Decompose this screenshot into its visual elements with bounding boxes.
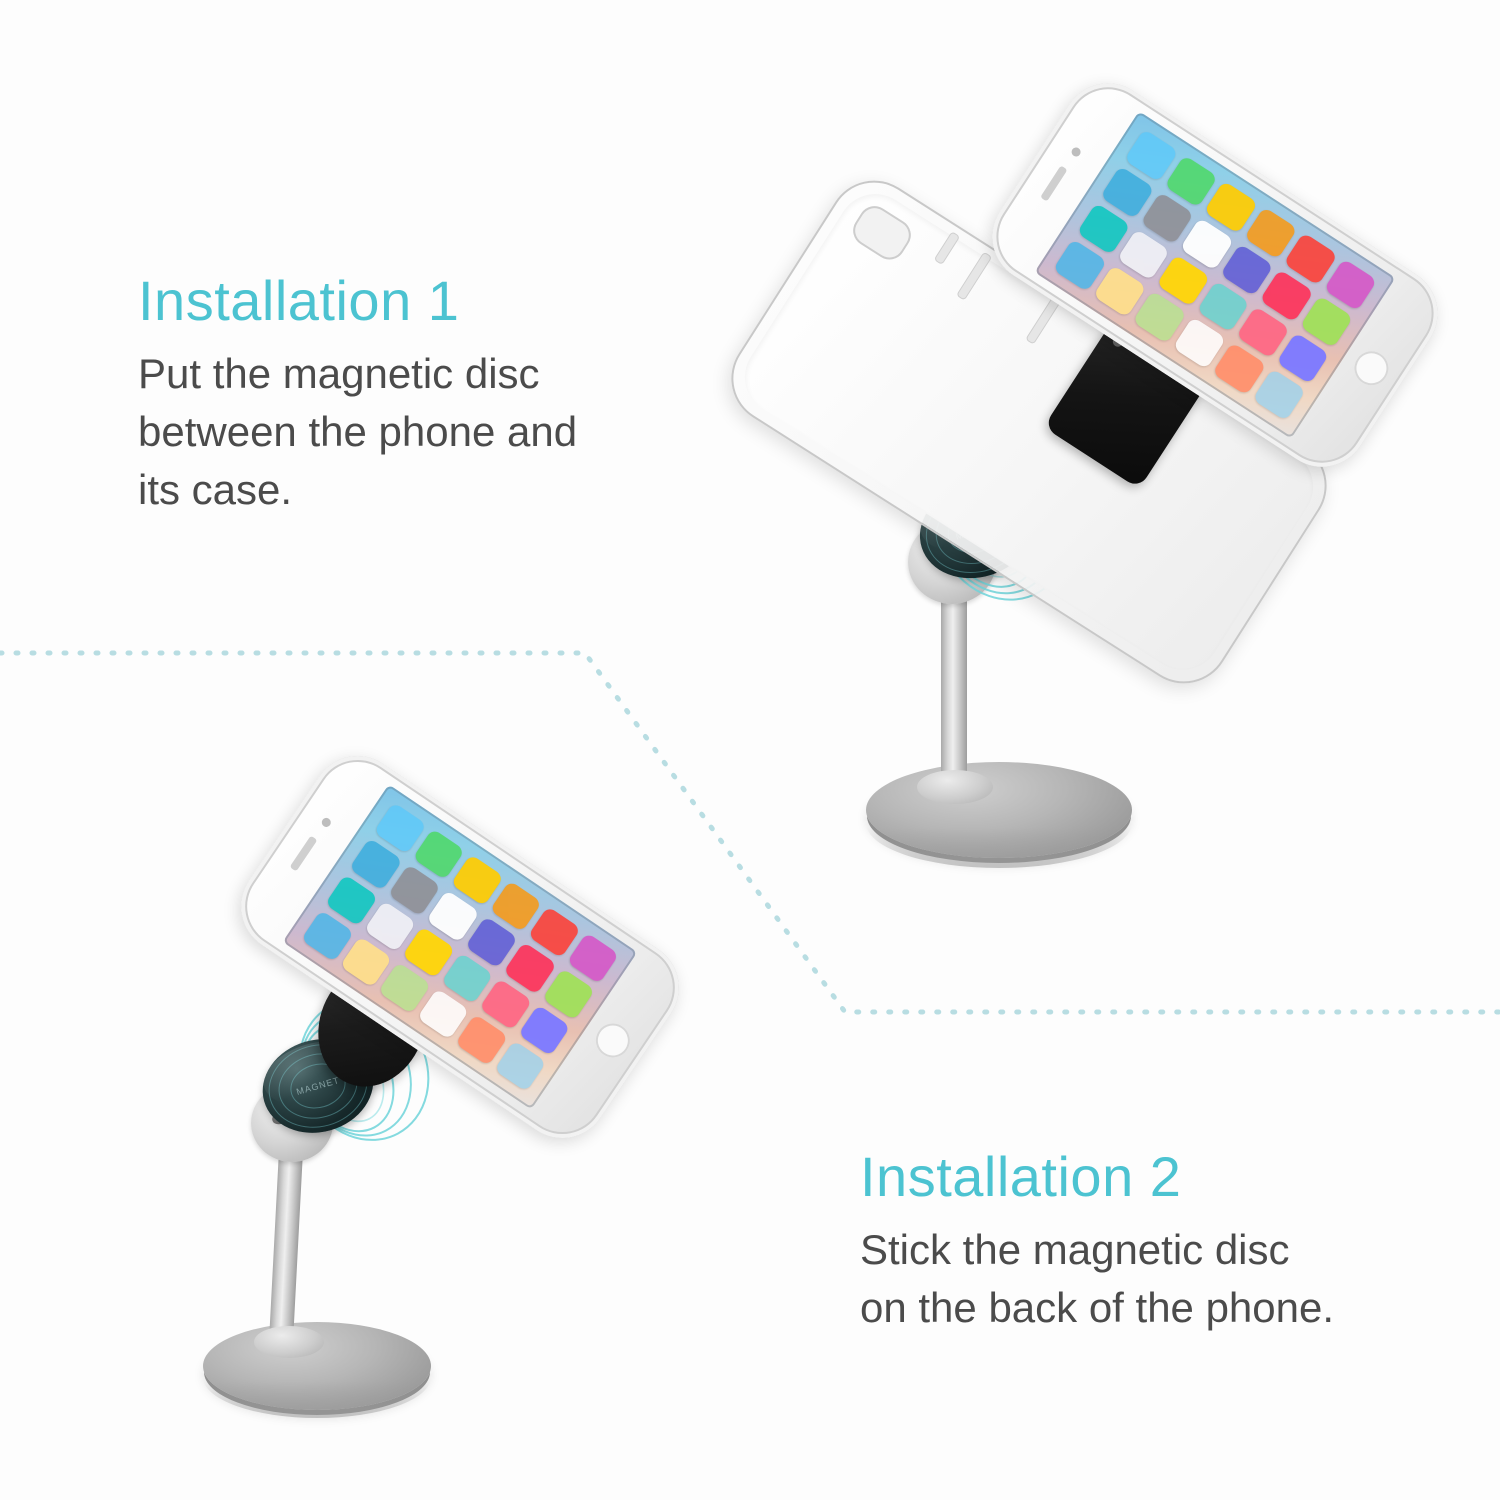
product-instruction-graphic: Installation 1 Put the magnetic disc bet… bbox=[0, 0, 1500, 1500]
magnetic-stand-stem-collar-2 bbox=[254, 1326, 324, 1358]
magnetic-stand-stem-2 bbox=[269, 1148, 303, 1345]
installation-2-illustration: MAGNET bbox=[0, 0, 1500, 1500]
